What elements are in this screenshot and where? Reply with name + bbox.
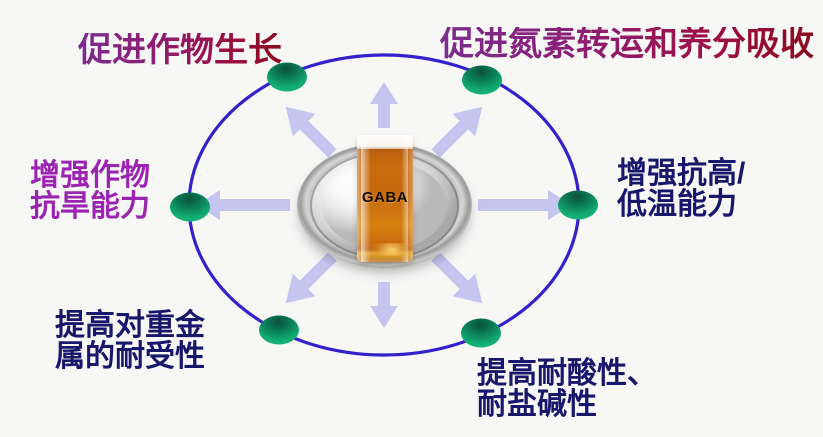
label-crop-growth[interactable]: 促进作物生长	[78, 33, 282, 68]
glass-bottom-glow	[357, 243, 413, 256]
label-acid-salt-tolerance[interactable]: 提高耐酸性、 耐盐碱性	[477, 358, 657, 420]
label-drought-resistance[interactable]: 增强作物 抗旱能力	[30, 160, 150, 222]
gaba-product-label: GABA	[357, 189, 413, 206]
label-temperature-resistance[interactable]: 增强抗高/ 低温能力	[617, 158, 745, 220]
arrow-right-icon	[478, 190, 572, 220]
label-nitrogen-transport[interactable]: 促进氮素转运和养分吸收	[440, 27, 814, 62]
gaba-centerpiece: GABA	[297, 135, 472, 275]
label-heavy-metal-tolerance[interactable]: 提高对重金 属的耐受性	[55, 310, 205, 372]
gaba-glass: GABA	[357, 135, 413, 262]
arrow-up-icon	[370, 82, 398, 128]
diagram-canvas: GABA 促进作物生长 促进氮素转运和养分吸收 增强作物 抗旱能力 增强抗高/ …	[0, 0, 823, 437]
arrow-down-icon	[370, 282, 398, 328]
arrow-left-icon	[196, 190, 290, 220]
